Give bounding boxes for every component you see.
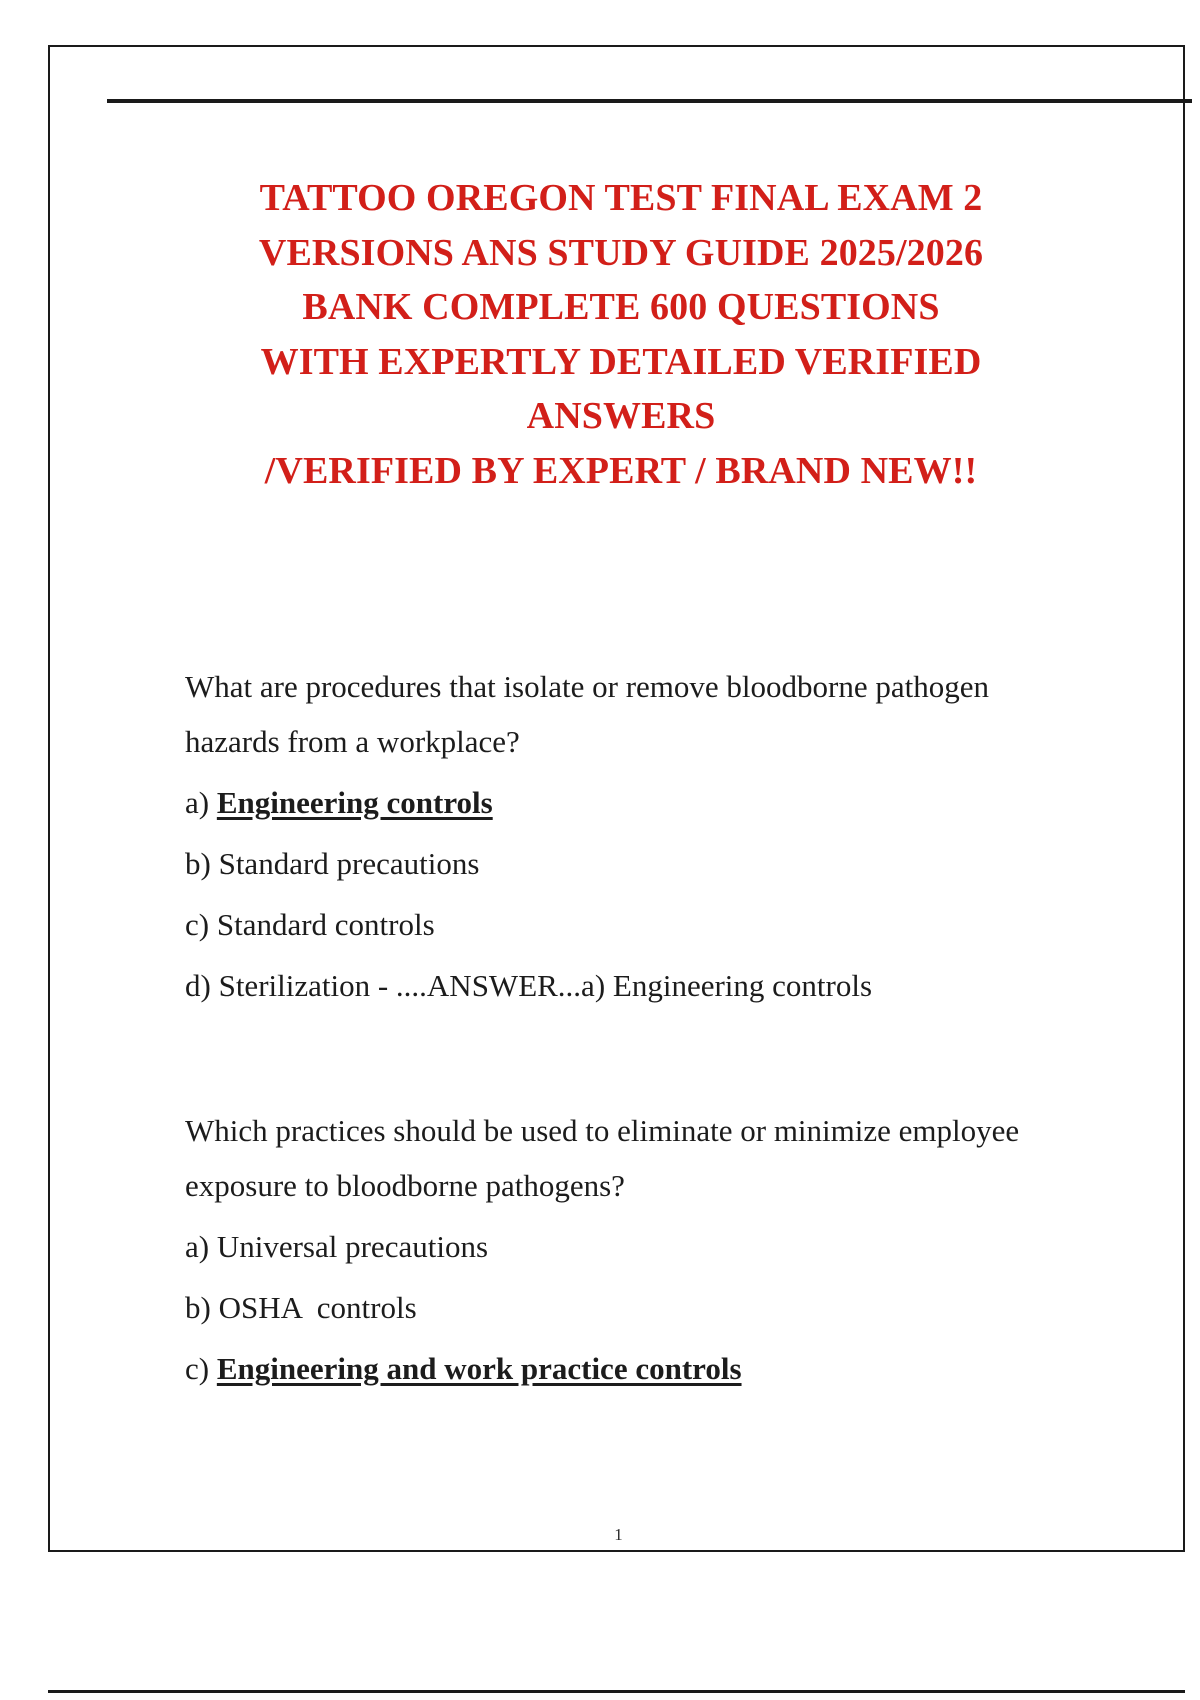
title-line: /VERIFIED BY EXPERT / BRAND NEW!! — [146, 444, 1096, 499]
question-prompt: What are procedures that isolate or remo… — [185, 659, 1040, 769]
header-rule — [107, 99, 1192, 103]
option-marker: a) — [185, 1229, 217, 1264]
document-page: TATTOO OREGON TEST FINAL EXAM 2 VERSIONS… — [48, 45, 1185, 1552]
page-title: TATTOO OREGON TEST FINAL EXAM 2 VERSIONS… — [146, 171, 1096, 498]
question-prompt: Which practices should be used to elimin… — [185, 1103, 1040, 1213]
answer-option[interactable]: b) OSHA controls — [185, 1274, 1085, 1335]
option-marker: c) — [185, 907, 217, 942]
option-text: Engineering and work practice controls — [217, 1351, 742, 1386]
question-spacer — [185, 1041, 1085, 1103]
option-marker: b) — [185, 846, 219, 881]
option-text: OSHA controls — [219, 1290, 417, 1325]
title-line: WITH EXPERTLY DETAILED VERIFIED — [146, 335, 1096, 390]
question-block: What are procedures that isolate or remo… — [185, 659, 1085, 1013]
option-text: Standard precautions — [219, 846, 480, 881]
answer-option[interactable]: c) Engineering and work practice control… — [185, 1335, 1085, 1396]
answer-option[interactable]: a) Engineering controls — [185, 769, 1085, 830]
option-marker: b) — [185, 1290, 219, 1325]
option-marker: c) — [185, 1351, 217, 1386]
option-marker: d) — [185, 968, 219, 1003]
answer-option[interactable]: a) Universal precautions — [185, 1213, 1085, 1274]
option-text: Standard controls — [217, 907, 435, 942]
option-marker: a) — [185, 785, 217, 820]
answer-option[interactable]: d) Sterilization - ....ANSWER...a) Engin… — [185, 952, 1085, 1013]
answer-option[interactable]: b) Standard precautions — [185, 830, 1085, 891]
option-text: Universal precautions — [217, 1229, 488, 1264]
title-line: BANK COMPLETE 600 QUESTIONS — [146, 280, 1096, 335]
question-list: What are procedures that isolate or remo… — [185, 659, 1085, 1424]
title-line: VERSIONS ANS STUDY GUIDE 2025/2026 — [146, 226, 1096, 281]
title-line: ANSWERS — [146, 389, 1096, 444]
option-text: Engineering controls — [217, 785, 493, 820]
option-text: Sterilization - ....ANSWER...a) Engineer… — [219, 968, 872, 1003]
next-page-edge — [48, 1690, 1185, 1693]
answer-option[interactable]: c) Standard controls — [185, 891, 1085, 952]
question-block: Which practices should be used to elimin… — [185, 1103, 1085, 1396]
page-number: 1 — [50, 1525, 1187, 1545]
title-line: TATTOO OREGON TEST FINAL EXAM 2 — [146, 171, 1096, 226]
